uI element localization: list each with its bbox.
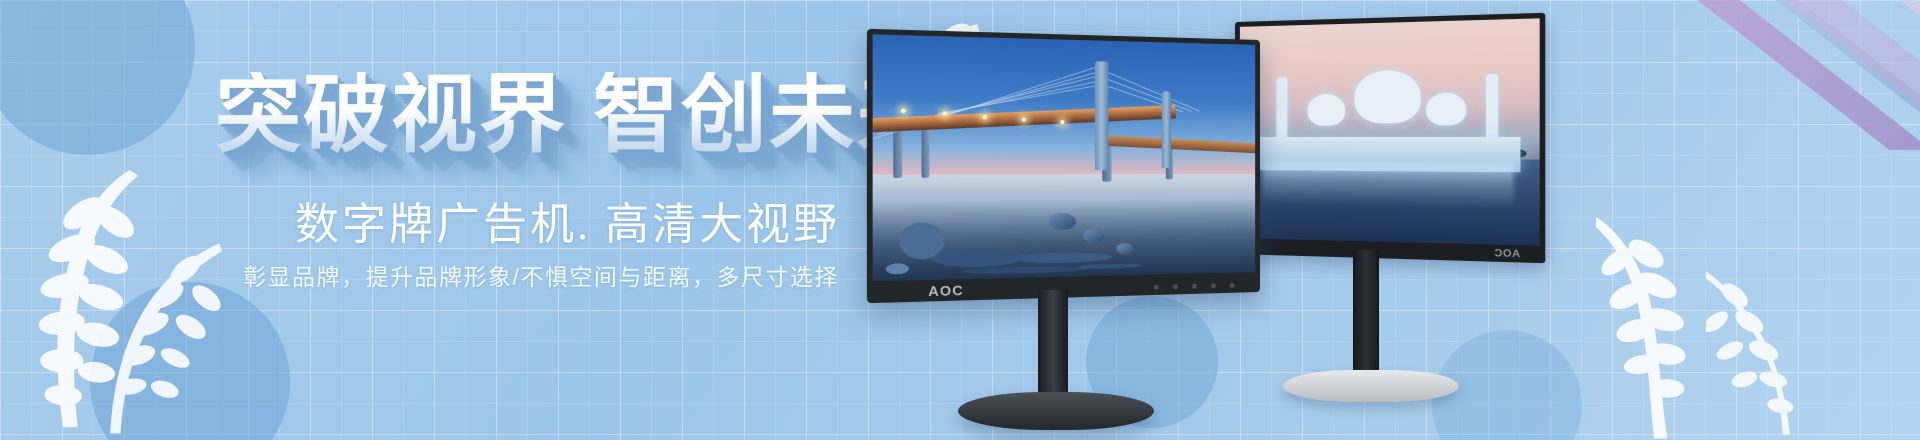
bridge-pier-2: [922, 124, 930, 178]
osd-button-2[interactable]: [1173, 284, 1178, 289]
product-monitors-group: AOC: [880, 0, 1920, 440]
banner-subtitle: 数字牌广告机. 高清大视野: [295, 188, 840, 252]
bridge-rock-3: [1117, 243, 1135, 255]
osd-button-5[interactable]: [1230, 283, 1235, 288]
bridge-rocky-shore: [873, 181, 1256, 281]
monitor-front: AOC: [888, 40, 1268, 440]
bridge-rock-2: [1083, 229, 1104, 243]
osd-button-1[interactable]: [1154, 285, 1159, 290]
monitor-front-stand-neck: [1038, 290, 1068, 408]
banner-tagline: 彰显品牌，提升品牌形象/不惧空间与距离，多尺寸选择: [243, 258, 839, 292]
bridge-pylon-second: [1162, 91, 1171, 168]
monitor-back-bezel: AOC: [1235, 13, 1545, 263]
osd-button-4[interactable]: [1211, 283, 1216, 288]
monitor-back-stand-neck: [1353, 250, 1379, 378]
monitor-front-osd-buttons[interactable]: [1154, 283, 1235, 290]
monitor-front-bezel: AOC: [867, 29, 1260, 303]
monitor-back-screen: [1240, 18, 1540, 245]
bridge-lamp-3: [982, 115, 986, 119]
promo-banner: 突破视界 智创未来 数字牌广告机. 高清大视野 彰显品牌，提升品牌形象/不惧空间…: [0, 0, 1920, 440]
mosque-dome-left: [1308, 93, 1346, 126]
mosque-minaret-right: [1485, 74, 1498, 142]
mosque-dome-right: [1427, 92, 1467, 126]
bridge-lamp-4: [1022, 117, 1026, 121]
banner-copy-block: 突破视界 智创未来 数字牌广告机. 高清大视野 彰显品牌，提升品牌形象/不惧空间…: [0, 0, 900, 440]
monitor-front-stand-base: [958, 392, 1154, 430]
mosque-dome-center: [1355, 70, 1421, 123]
bridge-pylon-main: [1095, 62, 1109, 170]
bridge-rock-1: [1049, 212, 1077, 229]
mosque-reflection: [1262, 162, 1514, 209]
monitor-back-logo: AOC: [1494, 248, 1520, 261]
monitor-back: AOC: [1235, 22, 1530, 422]
mosque-minaret-left: [1276, 77, 1287, 141]
banner-headline: 突破视界 智创未来: [215, 72, 945, 158]
monitor-back-stand-base: [1283, 370, 1459, 402]
osd-button-3[interactable]: [1192, 284, 1197, 289]
monitor-front-screen: [873, 34, 1256, 281]
monitor-front-logo: AOC: [928, 282, 964, 299]
